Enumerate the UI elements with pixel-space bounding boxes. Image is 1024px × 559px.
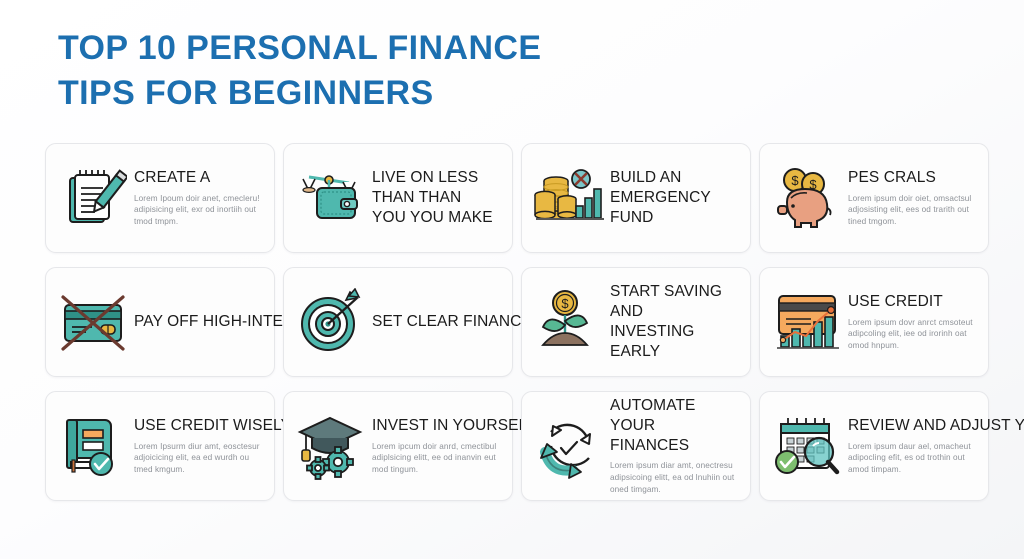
card-body: Lorem Ipsurm diur amt, eosctesur adjoici… [134,441,268,477]
card-text-block: AUTOMATE YOUR FINANCES Lorem ipsum diar … [608,396,744,496]
card-title: AUTOMATE YOUR FINANCES [610,396,744,455]
piggy-bank-icon: $ $ [770,160,846,236]
tip-card-review-adjust-plan[interactable]: REVIEW AND ADJUST YOUR PLAN Lorem ipsum … [759,391,989,501]
infographic-page: TOP 10 PERSONAL FINANCE TIPS FOR BEGINNE… [0,0,1024,559]
card-body: Lorem ipsum diar amt, onectresu adipsico… [610,460,744,496]
tip-card-pes-crals[interactable]: $ $ PES CRALS Lorem ipsum doir oiet, oms… [759,143,989,253]
card-title: SET CLEAR FINANCIAL GOALS [372,312,506,332]
card-body: Lorem ipsum dovr anrct cmsoteut adipcoli… [848,317,982,353]
card-title: PES CRALS [848,168,982,188]
card-text-block: PES CRALS Lorem ipsum doir oiet, omsacts… [846,168,982,229]
svg-text:$: $ [791,173,799,188]
tip-card-financial-goals[interactable]: SET CLEAR FINANCIAL GOALS [283,267,513,377]
tip-card-emergency-fund[interactable]: BUILD AN EMERGENCY FUND [521,143,751,253]
graduation-gears-icon [294,408,370,484]
page-title: TOP 10 PERSONAL FINANCE TIPS FOR BEGINNE… [58,26,541,116]
tip-card-pay-off-debt[interactable]: PAY OFF HIGH-INTERIEST DEBT [45,267,275,377]
target-arrow-icon [294,284,370,360]
money-plant-icon: $ [532,284,608,360]
tip-card-create-a[interactable]: CREATE A Lorem Ipoum doir anet, cmecleru… [45,143,275,253]
calendar-magnifier-icon [770,408,846,484]
card-text-block: USE CREDIT WISELY Lorem Ipsurm diur amt,… [132,416,268,477]
refresh-arrows-icon [532,408,608,484]
card-text-block: SET CLEAR FINANCIAL GOALS [370,312,506,332]
scales-wallet-icon [294,160,370,236]
coins-barchart-icon [532,160,608,236]
svg-text:$: $ [561,296,569,311]
tip-card-use-credit[interactable]: USE CREDIT Lorem ipsum dovr anrct cmsote… [759,267,989,377]
tip-card-use-credit-wisely[interactable]: USE CREDIT WISELY Lorem Ipsurm diur amt,… [45,391,275,501]
card-title: USE CREDIT WISELY [134,416,268,436]
card-body: Lorem Ipoum doir anet, cmecleru! adipisi… [134,193,268,229]
notepad-pencil-icon [56,160,132,236]
card-body: Lorem ipcum doir anrd, cmectibul adiplsi… [372,441,506,477]
credit-card-chart-icon [770,284,846,360]
card-title: START SAVING AND INVESTING EARLY [610,282,744,361]
card-text-block: BUILD AN EMERGENCY FUND [608,168,744,227]
card-text-block: REVIEW AND ADJUST YOUR PLAN Lorem ipsum … [846,416,982,477]
card-title: INVEST IN YOURSELF [372,416,506,436]
tip-card-invest-in-yourself[interactable]: INVEST IN YOURSELF Lorem ipcum doir anrd… [283,391,513,501]
card-body: Lorem ipsum doir oiet, omsactsul adjosis… [848,193,982,229]
crossed-credit-card-icon [56,284,132,360]
book-check-icon [56,408,132,484]
tip-card-live-on-less[interactable]: LIVE ON LESS THAN THAN YOU YOU MAKE [283,143,513,253]
card-text-block: PAY OFF HIGH-INTERIEST DEBT [132,312,268,332]
card-body: Lorem ipsum daur ael, omacheut adipoclin… [848,441,982,477]
card-title: REVIEW AND ADJUST YOUR PLAN [848,416,982,436]
card-title: CREATE A [134,168,268,188]
tips-card-grid: CREATE A Lorem Ipoum doir anet, cmecleru… [45,143,989,501]
card-title: USE CREDIT [848,292,982,312]
card-text-block: INVEST IN YOURSELF Lorem ipcum doir anrd… [370,416,506,477]
card-text-block: CREATE A Lorem Ipoum doir anet, cmecleru… [132,168,268,229]
card-title: LIVE ON LESS THAN THAN YOU YOU MAKE [372,168,506,227]
tip-card-automate-finances[interactable]: AUTOMATE YOUR FINANCES Lorem ipsum diar … [521,391,751,501]
card-title: BUILD AN EMERGENCY FUND [610,168,744,227]
card-text-block: USE CREDIT Lorem ipsum dovr anrct cmsote… [846,292,982,353]
card-text-block: LIVE ON LESS THAN THAN YOU YOU MAKE [370,168,506,227]
tip-card-start-saving[interactable]: $ START SAVING AND INVESTING EARLY [521,267,751,377]
card-title: PAY OFF HIGH-INTERIEST DEBT [134,312,268,332]
card-text-block: START SAVING AND INVESTING EARLY [608,282,744,361]
